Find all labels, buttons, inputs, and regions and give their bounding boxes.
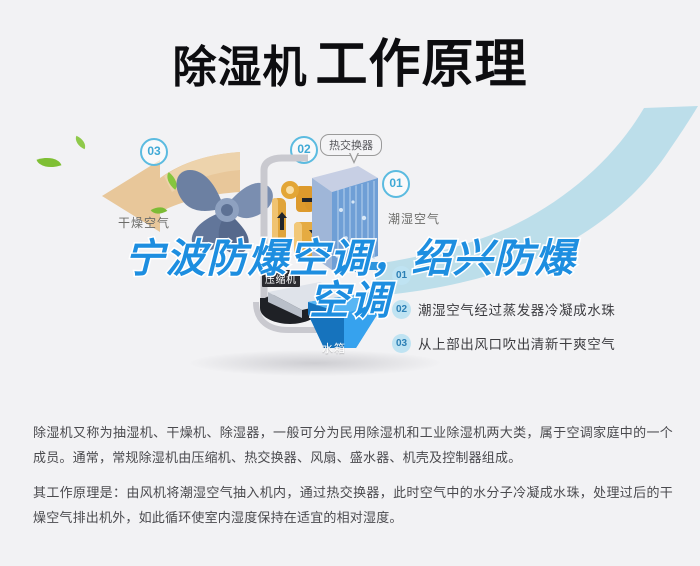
dry-air-label: 干燥空气 bbox=[118, 214, 170, 231]
body-paragraph-2: 其工作原理是：由风机将潮湿空气抽入机内，通过热交换器，此时空气中的水分子冷凝成水… bbox=[33, 480, 673, 530]
humid-air-label: 潮湿空气 bbox=[388, 210, 440, 227]
body-paragraph-1: 除湿机又称为抽湿机、干燥机、除湿器，一般可分为民用除湿机和工业除湿机两大类，属于… bbox=[33, 420, 673, 470]
legend: 01 02 潮湿空气经过蒸发器冷凝成水珠 03 从上部出风口吹出清新干爽空气 bbox=[392, 258, 692, 360]
page-title-part2: 工作原理 bbox=[315, 36, 527, 94]
diagram-badge-01: 01 bbox=[382, 170, 410, 198]
legend-badge-03: 03 bbox=[392, 334, 411, 353]
legend-text-02: 潮湿空气经过蒸发器冷凝成水珠 bbox=[418, 299, 615, 319]
dehumidifier-unit bbox=[246, 152, 386, 352]
page-title: 除湿机工作原理 bbox=[0, 22, 700, 97]
legend-item: 03 从上部出风口吹出清新干爽空气 bbox=[392, 326, 692, 360]
legend-badge-01: 01 bbox=[392, 266, 411, 285]
legend-item: 02 潮湿空气经过蒸发器冷凝成水珠 bbox=[392, 292, 692, 326]
water-tank-label: 水箱 bbox=[322, 340, 346, 356]
legend-badge-02: 02 bbox=[392, 300, 411, 319]
diagram-badge-03: 03 bbox=[140, 138, 168, 166]
page-title-part1: 除湿机 bbox=[172, 43, 307, 92]
compressor-label: 压缩机 bbox=[262, 270, 300, 287]
legend-item: 01 bbox=[392, 258, 692, 292]
leaf-icon bbox=[37, 153, 62, 172]
legend-text-03: 从上部出风口吹出清新干爽空气 bbox=[418, 333, 615, 353]
article-body: 除湿机又称为抽湿机、干燥机、除湿器，一般可分为民用除湿机和工业除湿机两大类，属于… bbox=[33, 420, 673, 540]
